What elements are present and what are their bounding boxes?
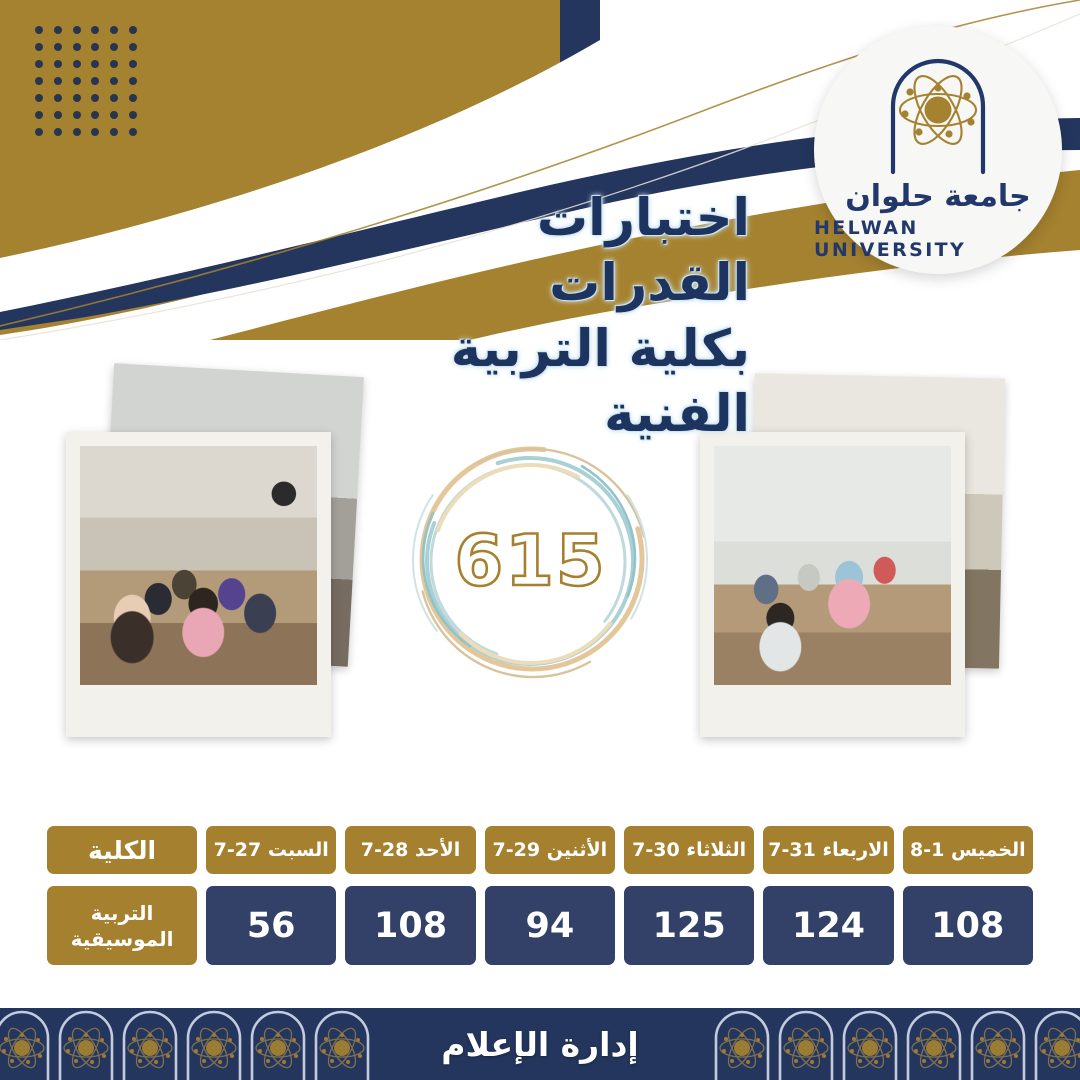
table-header-cell-6: الخميس 1-8 (903, 826, 1033, 874)
classroom-photo-front (80, 446, 317, 685)
arch-atom-pattern-icon (0, 1008, 370, 1080)
logo-english-name: HELWAN UNIVERSITY (814, 217, 1062, 261)
title-line-2: بكلية التربية الفنية (320, 317, 750, 448)
university-logo-badge: جامعة حلوان HELWAN UNIVERSITY (814, 26, 1062, 274)
footer-bar: إدارة الإعلام (0, 1008, 1080, 1080)
footer-pattern-left (0, 1008, 370, 1080)
table-cell-value-5: 108 (903, 886, 1033, 965)
table-cell-value-1: 108 (345, 886, 475, 965)
table-header-cell-4: الثلاثاء 30-7 (624, 826, 754, 874)
total-count-badge: 615 (408, 438, 653, 683)
photo-frame-front (66, 432, 331, 737)
table-header-cell-1: السبت 27-7 (206, 826, 336, 874)
total-count-value: 615 (408, 438, 653, 683)
table-row: 108 124 125 94 108 56 التربية الموسيقية (0, 886, 1080, 965)
logo-arabic-name: جامعة حلوان (845, 182, 1031, 212)
table-header-cell-3: الأثنين 29-7 (485, 826, 615, 874)
photo-frame-front (700, 432, 965, 737)
table-cell-value-0: 56 (206, 886, 336, 965)
schedule-table: الخميس 1-8 الاربعاء 31-7 الثلاثاء 30-7 ا… (0, 826, 1080, 965)
classroom-photo-front (714, 446, 951, 685)
dot-grid-decoration (30, 22, 142, 140)
table-cell-value-3: 125 (624, 886, 754, 965)
title-line-1: اختبارات القدرات (320, 186, 750, 317)
arch-atom-pattern-icon (710, 1008, 1080, 1080)
table-cell-value-2: 94 (485, 886, 615, 965)
atom-arch-icon (863, 44, 1013, 194)
footer-department-label: إدارة الإعلام (415, 1025, 664, 1064)
table-header-cell-faculty: الكلية (47, 826, 197, 874)
table-row-label: التربية الموسيقية (47, 886, 197, 965)
table-header-row: الخميس 1-8 الاربعاء 31-7 الثلاثاء 30-7 ا… (0, 826, 1080, 874)
footer-pattern-right (710, 1008, 1080, 1080)
poster-canvas: جامعة حلوان HELWAN UNIVERSITY اختبارات ا… (0, 0, 1080, 1080)
table-header-cell-2: الأحد 28-7 (345, 826, 475, 874)
page-title: اختبارات القدرات بكلية التربية الفنية (320, 186, 750, 447)
table-header-cell-5: الاربعاء 31-7 (763, 826, 893, 874)
table-cell-value-4: 124 (763, 886, 893, 965)
